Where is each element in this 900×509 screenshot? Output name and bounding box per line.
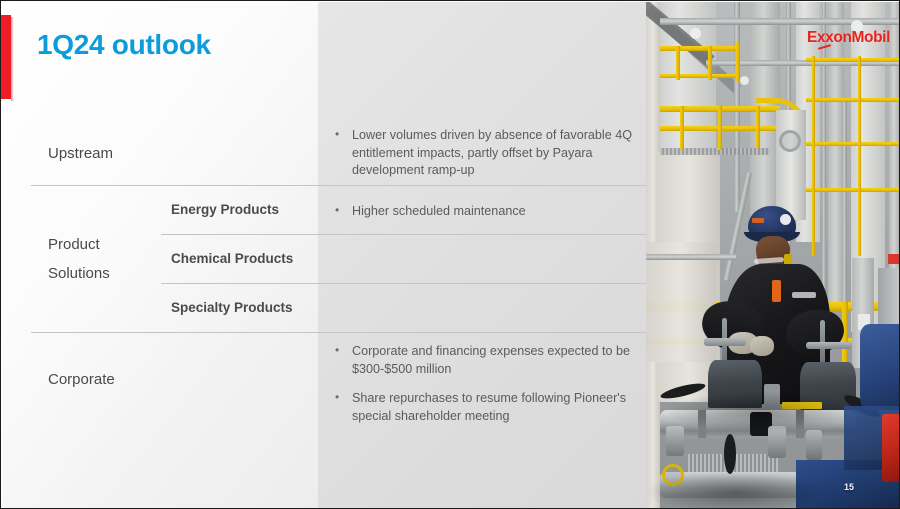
- refinery-photo: ExxonMobil 15: [646, 2, 900, 509]
- photo-hat-decal: [752, 218, 764, 223]
- row-divider-upstream: [31, 185, 646, 186]
- photo-yellow-post-8: [812, 56, 815, 256]
- row-divider-product-solutions: [31, 332, 646, 333]
- page-number: 15: [844, 482, 854, 492]
- photo-yellow-rail-8: [806, 188, 900, 192]
- photo-hose-2: [724, 434, 736, 474]
- row-label-upstream: Upstream: [48, 144, 113, 164]
- row-bullets-corporate: Corporate and financing expenses expecte…: [333, 343, 638, 425]
- presentation-slide: 1Q24 outlook Upstream Lower volumes driv…: [0, 0, 900, 509]
- photo-yellow-rail-6: [806, 98, 900, 102]
- photo-yellow-rail-7: [806, 142, 900, 146]
- logo-text-part-3: onMobil: [833, 29, 890, 46]
- subrow-divider-chemical: [161, 283, 646, 284]
- photo-vessel: [776, 110, 806, 220]
- photo-small-valve-3: [806, 430, 822, 460]
- photo-yellow-post-1: [676, 46, 680, 80]
- photo-lamp-2: [740, 76, 749, 85]
- outlook-table: Upstream Lower volumes driven by absence…: [1, 1, 647, 509]
- logo-text-part-1: E: [807, 29, 817, 46]
- photo-hat-logo: [780, 214, 791, 225]
- photo-yellow-post-2: [708, 46, 712, 80]
- bullet-item: Higher scheduled maintenance: [333, 203, 638, 221]
- photo-vertical-pipe-4: [842, 102, 847, 322]
- subrow-label-chemical-products: Chemical Products: [171, 251, 293, 266]
- bullet-item: Share repurchases to resume following Pi…: [333, 390, 638, 425]
- photo-jacket-patch: [772, 280, 781, 302]
- exxonmobil-logo: ExxonMobil: [807, 29, 890, 47]
- photo-red-marker: [888, 254, 900, 264]
- photo-valve-lever-2: [806, 342, 852, 349]
- photo-yellow-rail-5: [806, 58, 900, 62]
- photo-pipe-behind-worker: [646, 254, 736, 260]
- subrow-divider-energy: [161, 234, 646, 235]
- subrow-label-energy-products: Energy Products: [171, 202, 279, 217]
- photo-lamp-1: [690, 28, 701, 39]
- photo-red-box: [882, 414, 900, 482]
- photo-yellow-rail-1: [660, 46, 740, 51]
- photo-shadow-2: [646, 472, 826, 509]
- photo-yellow-post-9: [858, 56, 861, 256]
- photo-yellow-post-4: [680, 106, 684, 150]
- logo-text-part-2: xx: [817, 29, 833, 46]
- photo-yellow-rail-2: [660, 74, 740, 78]
- subrow-label-specialty-products: Specialty Products: [171, 300, 293, 315]
- photo-yellow-post-6: [756, 106, 760, 148]
- row-bullets-upstream: Lower volumes driven by absence of favor…: [333, 127, 638, 180]
- photo-jacket-logo: [792, 292, 816, 298]
- subrow-bullets-energy-products: Higher scheduled maintenance: [333, 203, 638, 221]
- photo-worker-glove-right: [750, 336, 774, 356]
- row-label-product-solutions-line1: Product: [48, 233, 100, 256]
- photo-horizontal-pipe-1: [660, 18, 900, 25]
- row-label-product-solutions-line2: Solutions: [48, 262, 110, 285]
- row-label-corporate: Corporate: [48, 370, 115, 390]
- bullet-item: Lower volumes driven by absence of favor…: [333, 127, 638, 180]
- photo-yellow-post-3: [736, 42, 740, 82]
- photo-flange-ring: [779, 130, 801, 152]
- bullet-item: Corporate and financing expenses expecte…: [333, 343, 638, 378]
- photo-blue-tarp: [860, 324, 900, 410]
- photo-yellow-post-5: [718, 106, 722, 150]
- photo-shadow-1: [666, 392, 856, 432]
- photo-grating-deck: [660, 148, 770, 155]
- photo-valve-lever-1: [704, 338, 746, 346]
